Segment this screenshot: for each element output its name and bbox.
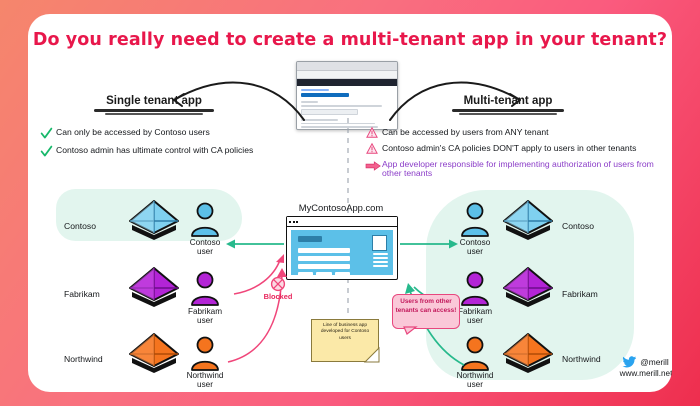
user-label-northwind-left: Northwind user	[176, 371, 234, 389]
portal-heading	[301, 93, 349, 97]
app-url-label: MyContosoApp.com	[274, 202, 408, 213]
tenant-diamond-contoso-left	[126, 199, 182, 247]
list-item-label: Can only be accessed by Contoso users	[56, 127, 210, 137]
tenant-label-contoso-left: Contoso	[64, 221, 124, 231]
heading-single-tenant: Single tenant app	[84, 95, 224, 115]
warning-icon	[366, 143, 382, 154]
app-form	[298, 248, 350, 277]
list-item-label: Contoso admin has ultimate control with …	[56, 145, 253, 155]
list-item-label: Contoso admin's CA policies DON'T apply …	[382, 143, 636, 153]
speech-bubble-text: Users from other tenants can access!	[393, 295, 459, 315]
list-item: Contoso admin's CA policies DON'T apply …	[366, 143, 666, 154]
browser-tabstrip	[297, 62, 397, 71]
tenant-label-fabrikam-right: Fabrikam	[562, 289, 598, 299]
tenant-label-northwind-left: Northwind	[64, 354, 134, 364]
arrow-blocked-left	[218, 214, 298, 364]
heading-single-tenant-label: Single tenant app	[84, 95, 224, 107]
list-item: Can only be accessed by Contoso users	[40, 127, 300, 140]
tenant-diamond-fabrikam-left	[126, 266, 182, 314]
app-thumbnail	[372, 235, 387, 251]
check-icon	[40, 127, 56, 140]
sticky-note: Line of business app developed for Conto…	[311, 319, 379, 362]
tenant-diamond-northwind-left	[126, 332, 182, 380]
user-icon-northwind-left	[188, 336, 222, 372]
footer-credit: @merill www.merill.net	[598, 356, 672, 378]
tenant-label-contoso-right: Contoso	[562, 221, 594, 231]
check-icon	[40, 145, 56, 158]
blocked-icon	[270, 276, 286, 292]
list-item-label: Can be accessed by users from ANY tenant	[382, 127, 549, 137]
list-item: Contoso admin has ultimate control with …	[40, 145, 300, 158]
page-title: Do you really need to create a multi-ten…	[28, 30, 672, 50]
browser-addressbar	[297, 71, 397, 79]
tenant-label-fabrikam-left: Fabrikam	[64, 289, 130, 299]
poster-card: Do you really need to create a multi-ten…	[28, 14, 672, 392]
portal-topbar	[297, 79, 397, 86]
tenant-label-northwind-right: Northwind	[562, 354, 601, 364]
warning-icon	[366, 127, 382, 138]
bubble-tail	[403, 327, 417, 335]
blocked-label: Blocked	[256, 292, 300, 301]
list-item: App developer responsible for implementi…	[366, 159, 666, 178]
heading-multi-tenant-label: Multi-tenant app	[438, 95, 578, 107]
tenant-diamond-northwind-right	[500, 332, 556, 380]
speech-bubble-access: Users from other tenants can access!	[392, 294, 460, 329]
portal-input	[301, 109, 358, 115]
app-sidelist	[373, 253, 388, 267]
twitter-icon	[623, 356, 636, 367]
tenant-diamond-fabrikam-right	[500, 266, 556, 314]
user-label-northwind-right: Northwind user	[446, 371, 504, 389]
app-window-titlebar	[287, 217, 397, 227]
list-item-label: App developer responsible for implementi…	[382, 159, 666, 178]
multi-tenant-points: Can be accessed by users from ANY tenant…	[366, 127, 666, 183]
list-item: Can be accessed by users from ANY tenant	[366, 127, 666, 138]
app-logo	[298, 236, 322, 242]
heading-multi-tenant: Multi-tenant app	[438, 95, 578, 115]
arrow-right-icon	[366, 159, 382, 171]
user-icon-fabrikam-left	[188, 271, 222, 307]
arrow-contoso-right-allowed	[398, 236, 460, 252]
sticky-note-text: Line of business app developed for Conto…	[312, 320, 378, 342]
user-icon-contoso-right	[458, 202, 492, 238]
twitter-handle[interactable]: @merill	[640, 357, 669, 367]
tenant-diamond-contoso-right	[500, 199, 556, 247]
website-url[interactable]: www.merill.net	[598, 369, 672, 378]
single-tenant-points: Can only be accessed by Contoso users Co…	[40, 127, 300, 163]
user-icon-contoso-left	[188, 202, 222, 238]
